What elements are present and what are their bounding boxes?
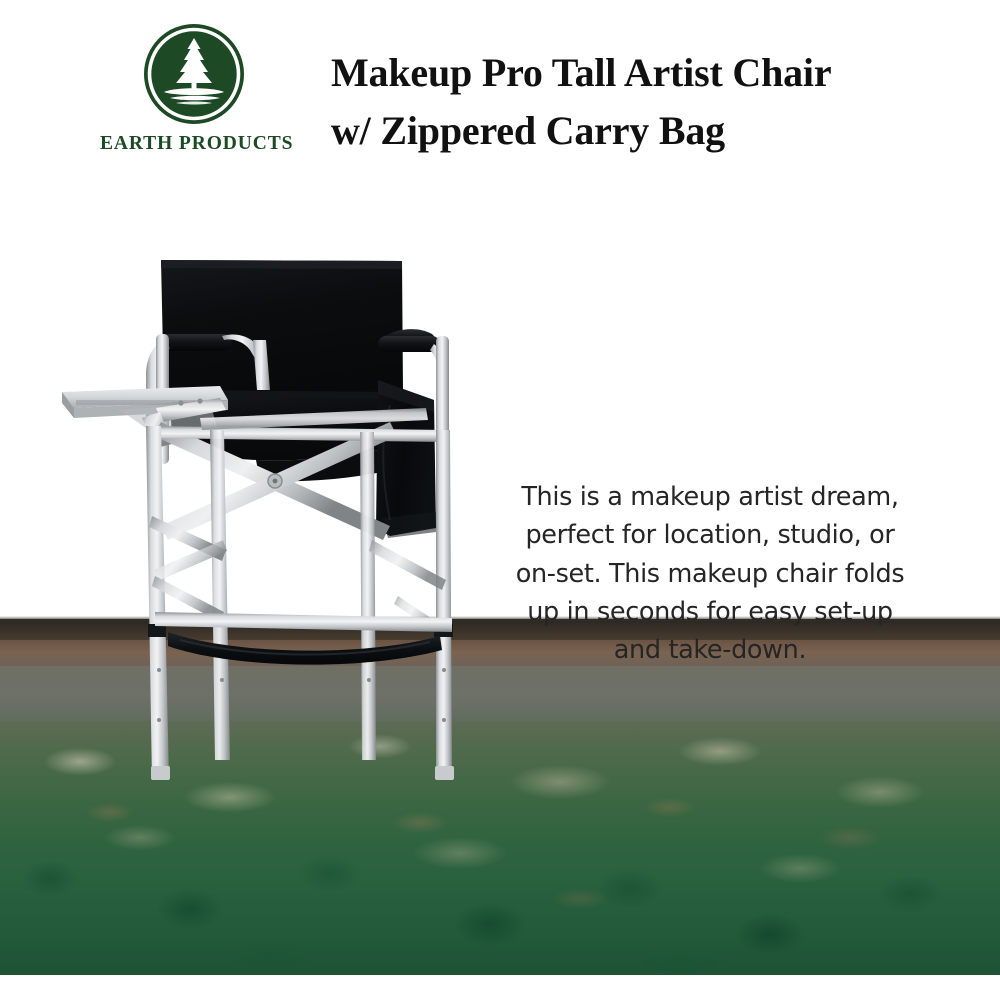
header-bar: EARTH PRODUCTS Makeup Pro Tall Artist Ch…	[0, 0, 1000, 185]
product-photo-scene: This is a makeup artist dream, perfect f…	[0, 185, 1000, 975]
chair-footrest	[155, 612, 452, 665]
chair-backrest	[161, 260, 403, 400]
chair-side-pocket	[376, 380, 436, 538]
chair-feet	[151, 766, 454, 780]
title-line-1: Makeup Pro Tall Artist Chair	[331, 44, 961, 102]
pine-tree-circle-icon	[142, 22, 246, 126]
title-line-2: w/ Zippered Carry Bag	[331, 102, 961, 160]
product-description: This is a makeup artist dream, perfect f…	[505, 478, 915, 669]
product-marketing-image: This is a makeup artist dream, perfect f…	[0, 0, 1000, 1000]
page-title: Makeup Pro Tall Artist Chair w/ Zippered…	[331, 44, 961, 161]
brand-name-label: EARTH PRODUCTS	[100, 133, 285, 155]
brand-logo: EARTH PRODUCTS	[100, 22, 285, 167]
makeup-chair-product-image	[60, 240, 480, 840]
bottom-white-margin	[0, 975, 1000, 1000]
